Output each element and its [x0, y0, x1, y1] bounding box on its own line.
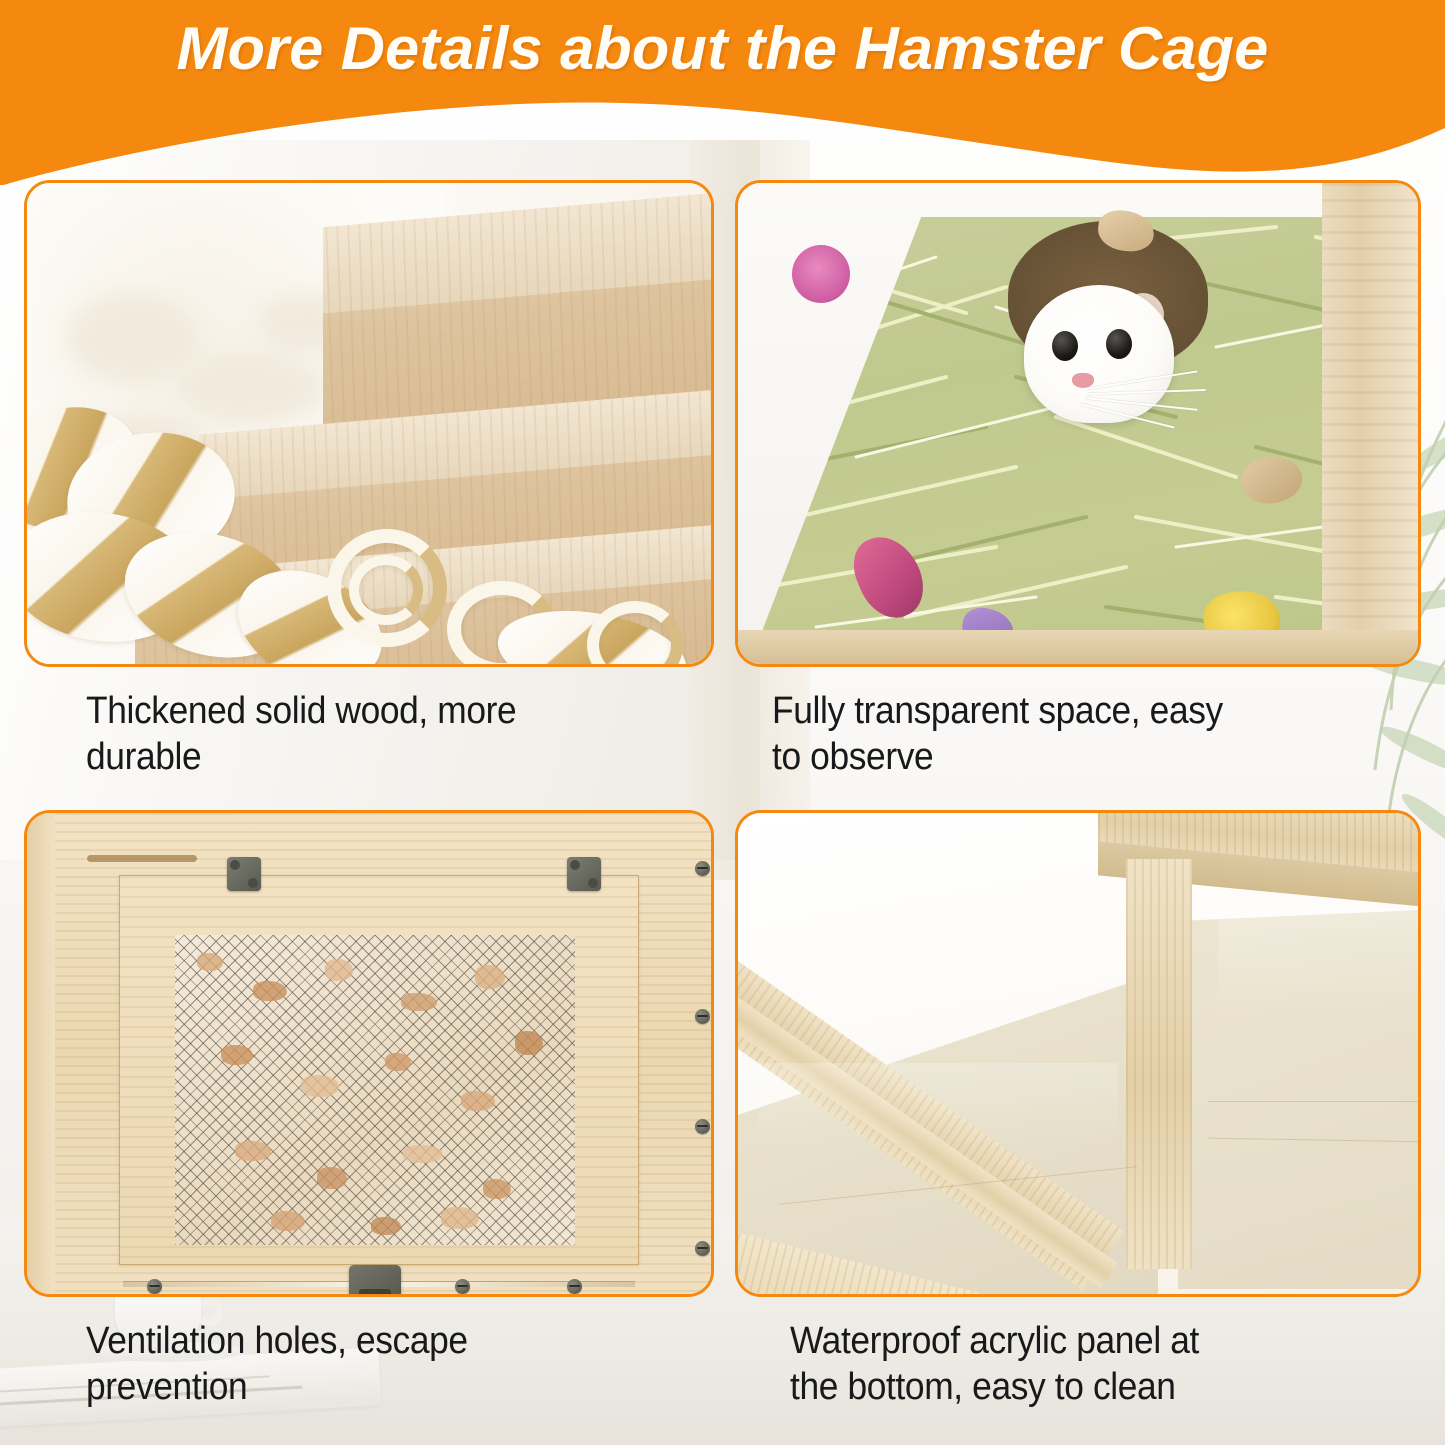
feature-image-fully-transparent-space [735, 180, 1421, 667]
feature-caption-waterproof-acrylic-panel: Waterproof acrylic panel at the bottom, … [790, 1318, 1422, 1411]
door-latch [349, 1265, 401, 1294]
screw [695, 1009, 710, 1024]
feature-card-thickened-solid-wood[interactable] [24, 180, 714, 667]
wood-frame-right-post [1322, 183, 1418, 664]
screw [695, 1241, 710, 1256]
screw [695, 861, 710, 876]
feature-caption-ventilation-holes: Ventilation holes, escape prevention [86, 1318, 700, 1411]
wood-frame-bottom-rail [738, 630, 1418, 664]
ventilated-door-photo [27, 813, 711, 1294]
screw [147, 1279, 162, 1294]
cage-side-edge [27, 813, 55, 1294]
feature-caption-fully-transparent-space: Fully transparent space, easy to observe [772, 688, 1404, 781]
screw [455, 1279, 470, 1294]
hamster-in-hay-photo [738, 183, 1418, 664]
dried-flower-pink [792, 245, 850, 303]
feature-image-ventilation-holes [24, 810, 714, 1297]
screw [567, 1279, 582, 1294]
feature-image-waterproof-acrylic-panel [735, 810, 1421, 1297]
door-hinge [567, 857, 601, 891]
feature-caption-thickened-solid-wood: Thickened solid wood, more durable [86, 688, 700, 781]
feature-image-thickened-solid-wood [24, 180, 714, 667]
hamster [1010, 269, 1220, 441]
wood-frame-corner-post [1126, 859, 1192, 1269]
feature-grid: Thickened solid wood, more durable [0, 0, 1445, 1445]
wood-blocks-photo [27, 183, 711, 664]
wood-shaving-curl [349, 555, 423, 625]
feature-card-waterproof-acrylic-panel[interactable] [735, 810, 1421, 1297]
acrylic-bottom-panel-photo [738, 813, 1418, 1294]
door-hinge [227, 857, 261, 891]
feature-card-fully-transparent-space[interactable] [735, 180, 1421, 667]
feature-card-ventilation-holes[interactable] [24, 810, 714, 1297]
wire-mesh-ventilation-panel [175, 935, 575, 1245]
screw [695, 1119, 710, 1134]
